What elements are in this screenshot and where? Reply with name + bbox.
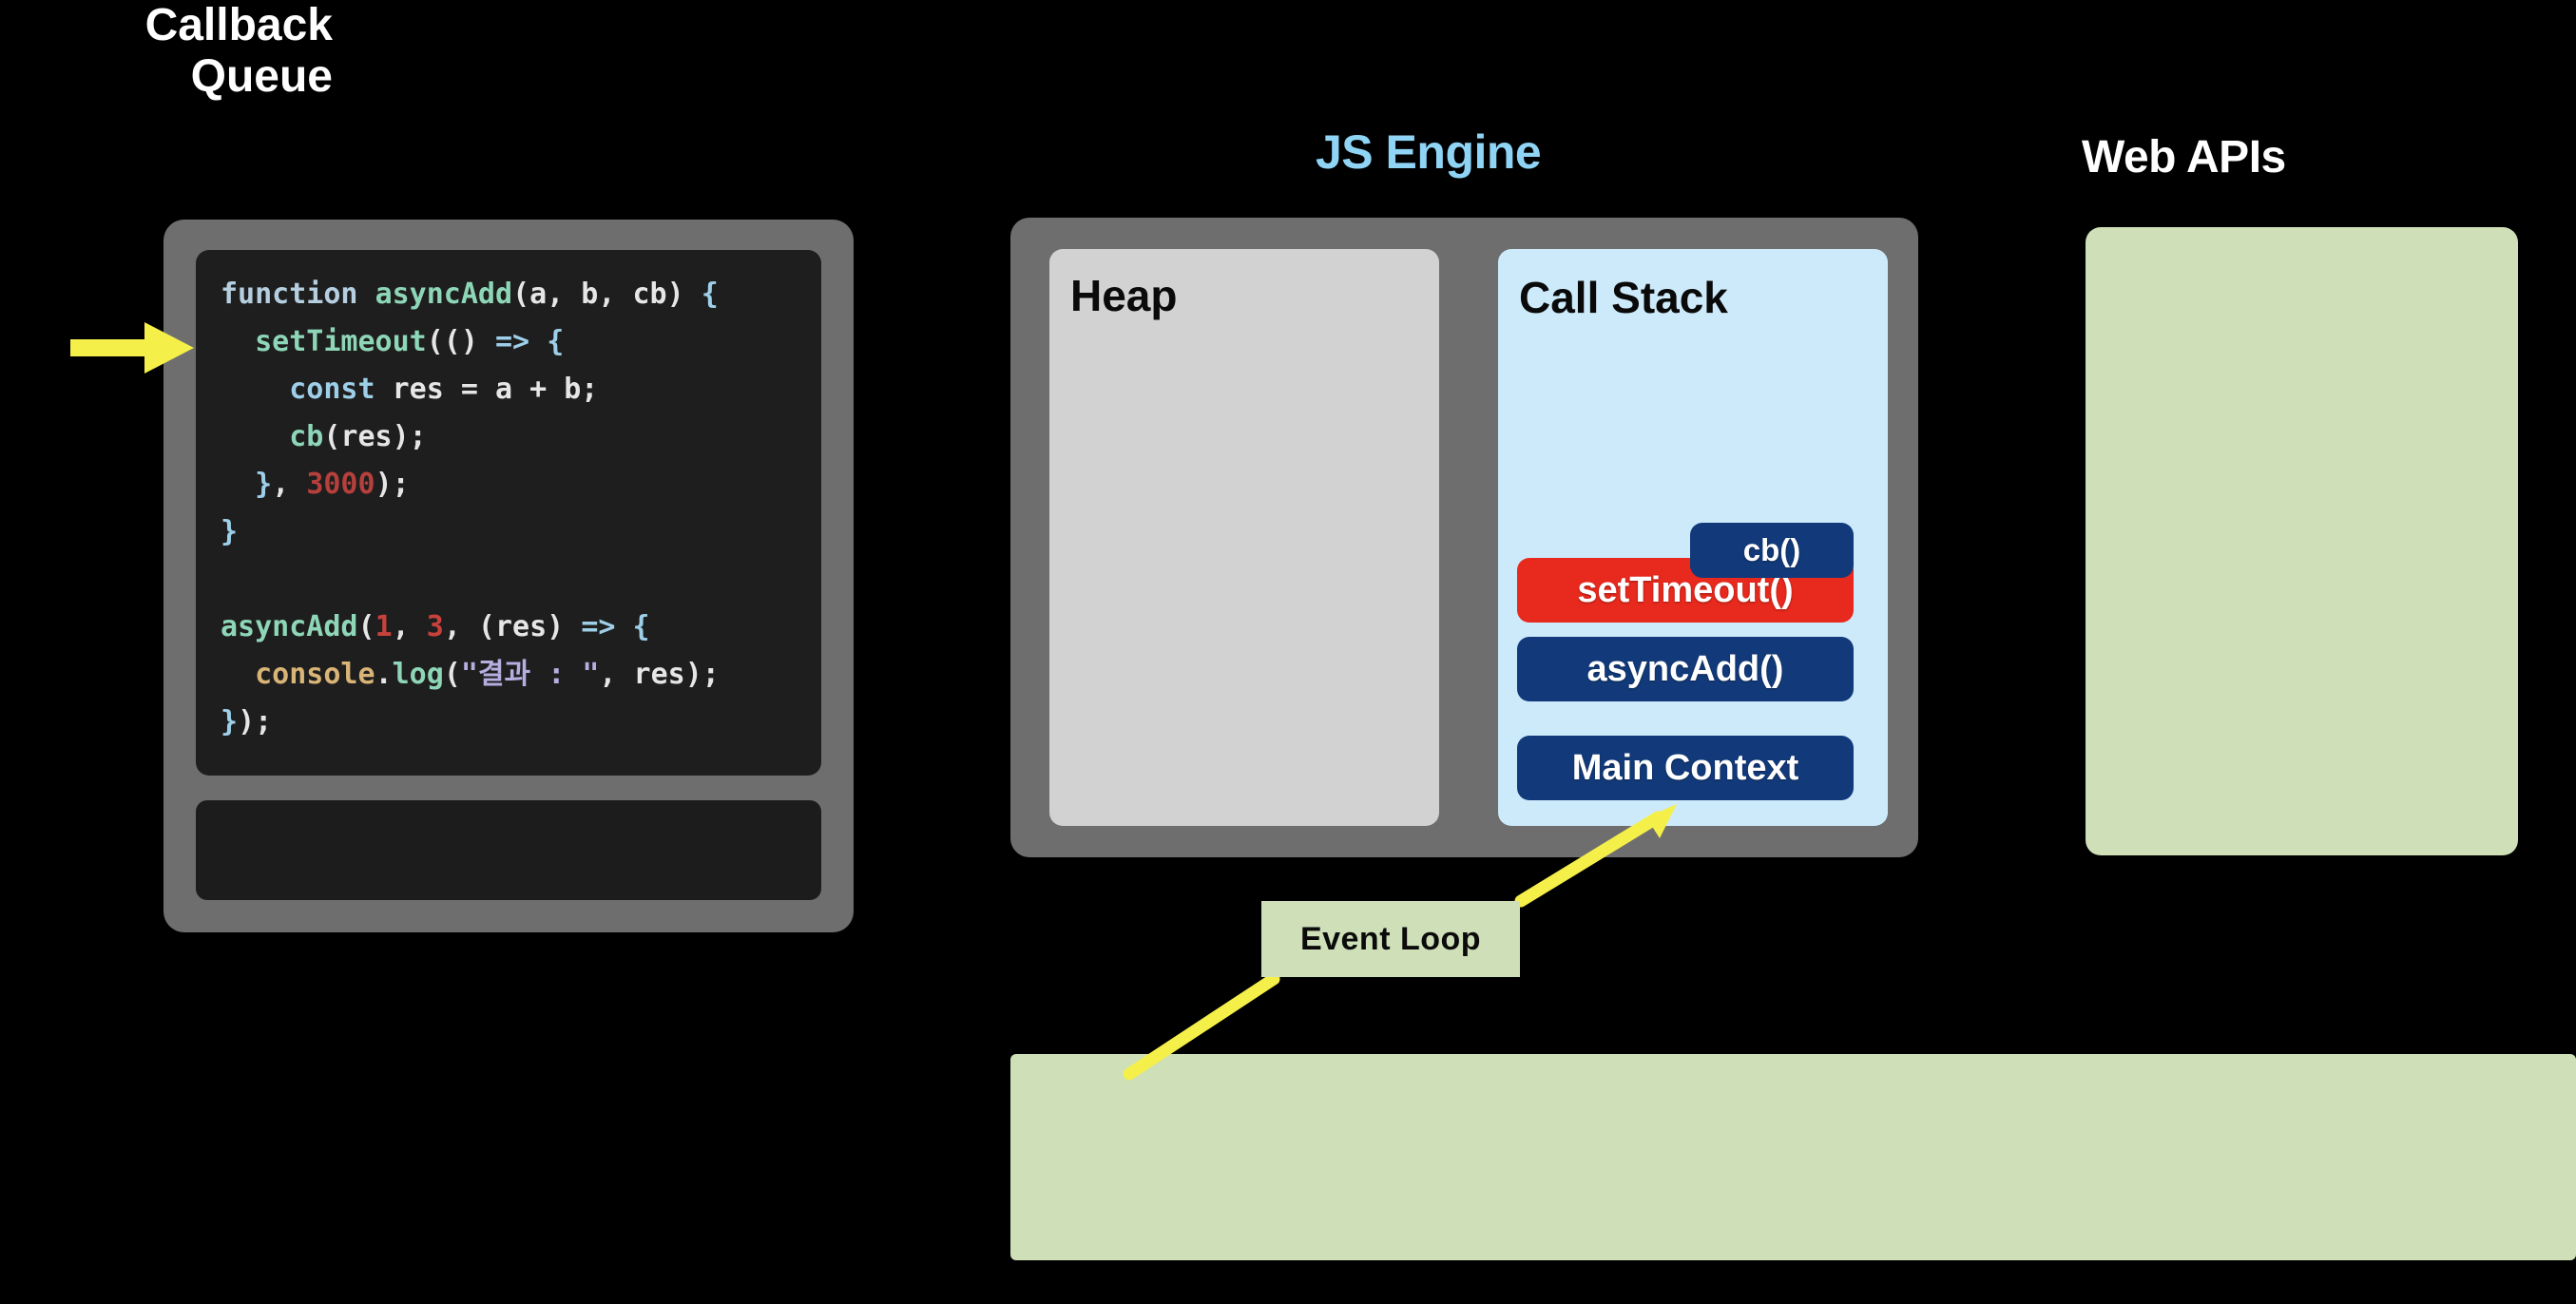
code-token: (() xyxy=(427,325,495,358)
code-editor-frame: function asyncAdd(a, b, cb) { setTimeout… xyxy=(163,220,854,932)
web-apis-title: Web APIs xyxy=(2082,131,2286,183)
code-token: (a, b, cb) xyxy=(512,278,702,311)
code-token xyxy=(221,325,255,358)
code-token: } xyxy=(221,705,238,738)
code-token: cb xyxy=(289,420,323,453)
code-token: 1 xyxy=(375,610,393,643)
code-line: const res = a + b; xyxy=(221,366,797,413)
web-apis-panel xyxy=(2086,227,2518,855)
code-line: function asyncAdd(a, b, cb) { xyxy=(221,271,797,318)
code-token xyxy=(221,468,255,501)
code-token: } xyxy=(221,515,238,548)
stack-frame-cb[interactable]: cb() xyxy=(1690,523,1854,578)
code-line-pointer-arrow-icon xyxy=(70,318,196,377)
code-token: , xyxy=(272,468,306,501)
code-token: asyncAdd xyxy=(375,278,513,311)
js-engine-container: Heap Call Stack cb() setTimeout() asyncA… xyxy=(1010,218,1918,857)
code-token: (res); xyxy=(323,420,426,453)
code-token: ); xyxy=(238,705,272,738)
code-token: res = a + b; xyxy=(375,373,599,406)
code-line: asyncAdd(1, 3, (res) => { xyxy=(221,604,797,651)
code-token: const xyxy=(289,373,375,406)
code-token xyxy=(529,325,547,358)
code-token: } xyxy=(255,468,272,501)
console-output-panel[interactable] xyxy=(196,800,821,900)
code-token: => xyxy=(581,610,615,643)
code-token: { xyxy=(702,278,719,311)
code-line: }); xyxy=(221,699,797,746)
code-line: cb(res); xyxy=(221,413,797,461)
code-token: log xyxy=(393,658,444,691)
call-stack-label: Call Stack xyxy=(1519,272,1728,323)
code-token: => xyxy=(495,325,529,358)
code-line: setTimeout(() => { xyxy=(221,318,797,366)
heap-label: Heap xyxy=(1070,270,1177,321)
code-token: asyncAdd xyxy=(221,610,358,643)
code-token: , res); xyxy=(599,658,719,691)
code-token: , xyxy=(393,610,427,643)
code-token: ); xyxy=(375,468,410,501)
callback-queue-title-line2: Queue xyxy=(0,51,333,103)
code-token xyxy=(221,373,289,406)
code-token: "결과 : " xyxy=(461,658,600,691)
stack-frame-main-context[interactable]: Main Context xyxy=(1517,736,1854,800)
code-token: 3 xyxy=(427,610,444,643)
call-stack-panel: Call Stack cb() setTimeout() asyncAdd() … xyxy=(1498,249,1888,826)
callback-queue-title-line1: Callback xyxy=(0,0,333,51)
code-panel[interactable]: function asyncAdd(a, b, cb) { setTimeout… xyxy=(196,250,821,776)
code-token: { xyxy=(547,325,564,358)
js-engine-title: JS Engine xyxy=(1316,125,1541,180)
code-line: console.log("결과 : ", res); xyxy=(221,651,797,699)
stack-frame-asyncadd[interactable]: asyncAdd() xyxy=(1517,637,1854,701)
code-token: function xyxy=(221,278,375,311)
code-token: console xyxy=(255,658,375,691)
code-token: ( xyxy=(358,610,375,643)
diagram-canvas: JS Engine Web APIs Callback Queue functi… xyxy=(0,0,2576,1304)
heap-panel: Heap xyxy=(1049,249,1439,826)
code-line: }, 3000); xyxy=(221,461,797,508)
callback-queue-panel xyxy=(1010,1054,2576,1260)
code-token: . xyxy=(375,658,393,691)
code-token xyxy=(221,658,255,691)
code-token xyxy=(615,610,632,643)
code-token xyxy=(221,420,289,453)
code-token: 3000 xyxy=(306,468,375,501)
code-token: , (res) xyxy=(444,610,582,643)
callback-queue-title: Callback Queue xyxy=(0,0,333,103)
code-line xyxy=(221,556,797,604)
event-loop-label: Event Loop xyxy=(1261,901,1520,977)
code-content: function asyncAdd(a, b, cb) { setTimeout… xyxy=(221,271,797,746)
code-line: } xyxy=(221,508,797,556)
code-token: { xyxy=(633,610,650,643)
code-token: setTimeout xyxy=(255,325,427,358)
code-token: ( xyxy=(444,658,461,691)
